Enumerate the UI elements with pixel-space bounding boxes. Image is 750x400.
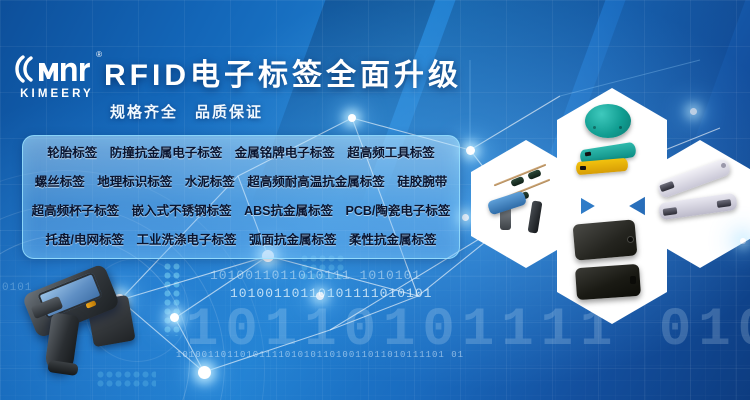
binary-row: 1010011011010111101010110100110110101111… — [176, 350, 464, 360]
product-list-panel: 轮胎标签 防撞抗金属电子标签 金属铭牌电子标签 超高频工具标签 螺丝标签 地理标… — [22, 135, 460, 259]
handheld-rfid-reader — [24, 270, 152, 380]
registered-trademark-icon: ® — [96, 50, 102, 59]
binary-large: 10110101111 0101 — [186, 300, 750, 361]
logo-wordmark: KIMEERY — [14, 88, 100, 100]
disc-hole-1 — [593, 126, 596, 129]
yellow-bar-chip — [580, 166, 586, 170]
binary-top: 1010011011010111 1010101 — [210, 268, 421, 283]
product-row: 托盘/电网标签 工业洗涤电子标签 弧面抗金属标签 柔性抗金属标签 — [23, 226, 459, 255]
network-node-2 — [170, 313, 179, 322]
product-row: 螺丝标签 地理标识标签 水泥标签 超高频耐高温抗金属标签 硅胶腕带 — [23, 168, 459, 197]
network-node-9 — [462, 214, 469, 221]
teal-disc-tag — [585, 104, 631, 138]
black-tag-top-hole — [628, 237, 633, 242]
product-row: 超高频杯子标签 嵌入式不锈钢标签 ABS抗金属标签 PCB/陶瓷电子标签 — [23, 197, 459, 226]
binary-mid: 10100110110101111010101 — [230, 286, 432, 301]
banner-subtitle: 规格齐全 品质保证 — [110, 101, 263, 122]
black-tag-bottom-notch — [630, 276, 636, 284]
rfid-product-banner: 10110101111 0101 10100110110101111010101… — [0, 0, 750, 400]
logo-mark-kmr: ® — [14, 52, 100, 86]
circuit-dots-left — [163, 262, 182, 336]
glow-accent-1 — [316, 292, 324, 300]
banner-title: RFID电子标签全面升级 — [104, 50, 462, 94]
disc-hole-2 — [619, 126, 622, 129]
black-rod-tag — [528, 200, 543, 233]
product-row: 轮胎标签 防撞抗金属电子标签 金属铭牌电子标签 超高频工具标签 — [23, 139, 459, 168]
network-node-5 — [466, 146, 475, 155]
glow-accent-2 — [690, 108, 697, 115]
reader-grip-base — [47, 360, 78, 376]
brand-logo[interactable]: ® KIMEERY — [14, 52, 100, 100]
network-node-4 — [198, 366, 211, 379]
white-uhf-tag-upper-hole — [721, 163, 726, 168]
glow-accent-3 — [740, 238, 746, 244]
network-node-8 — [348, 114, 356, 122]
